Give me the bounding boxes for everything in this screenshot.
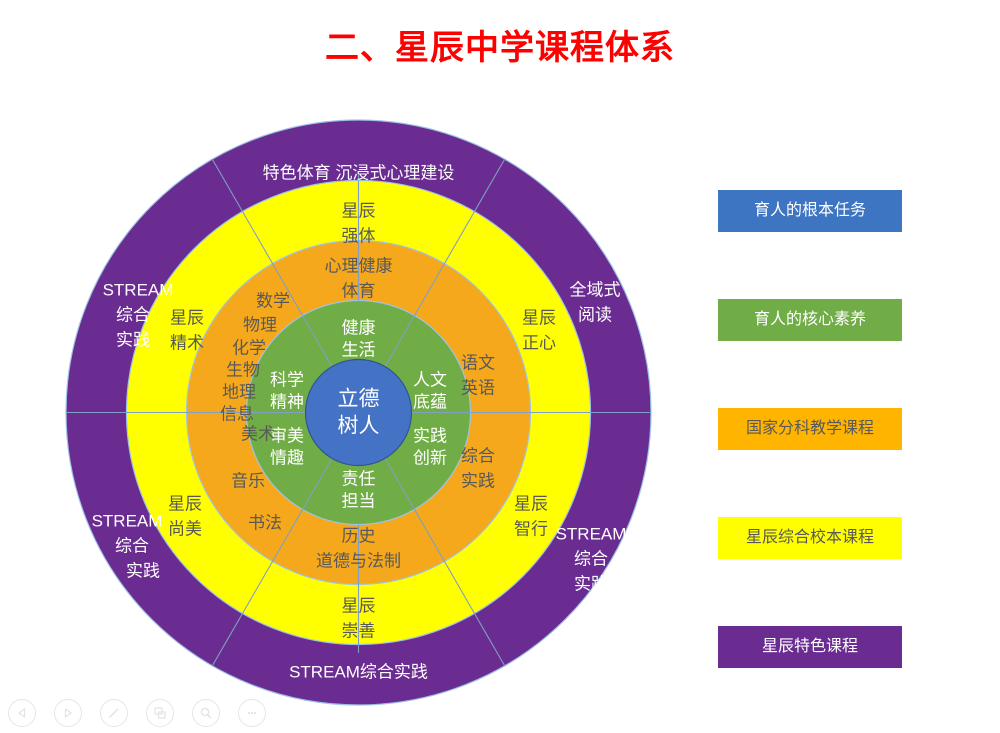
orange-seg-stem-line2: 物理 [243, 315, 277, 334]
yellow-seg-zhixing-line2: 智行 [514, 519, 548, 538]
orange-seg-comprehensive-line1: 综合 [461, 446, 495, 465]
purple-seg-lower-left-line1: STREAM [92, 511, 163, 530]
orange-seg-art-line1: 美术 [241, 424, 275, 443]
green-seg-aesthetic-line1: 审美 [270, 426, 304, 445]
grid-icon [153, 706, 167, 720]
zoom-tool-button[interactable] [192, 699, 220, 727]
purple-seg-upper-left-line3: 实践 [116, 330, 150, 349]
legend-item-core-literacy[interactable]: 育人的核心素养 [718, 299, 902, 341]
orange-seg-art-line3: 书法 [248, 513, 282, 532]
yellow-seg-qiangti-line1: 星辰 [342, 201, 376, 220]
purple-seg-lower-right-line2: 综合 [574, 549, 608, 568]
green-seg-practice-line1: 实践 [413, 426, 447, 445]
legend-label: 育人的核心素养 [754, 312, 866, 328]
yellow-seg-jingshu-line2: 精术 [170, 333, 204, 352]
course-system-diagram: 立德 树人 健康 生活 人文 底蕴 实践 创新 责任 担当 审美 情趣 科学 精… [65, 119, 652, 706]
orange-seg-history-line2: 道德与法制 [316, 551, 401, 570]
next-slide-button[interactable] [54, 699, 82, 727]
triangle-left-icon [16, 707, 28, 719]
core-label-line2: 树人 [338, 415, 380, 438]
legend-label: 星辰特色课程 [762, 639, 858, 655]
green-seg-humanity-line2: 底蕴 [413, 392, 447, 411]
green-seg-duty-line1: 责任 [342, 469, 376, 488]
green-seg-aesthetic-line2: 情趣 [270, 448, 304, 467]
legend-item-school-based[interactable]: 星辰综合校本课程 [718, 517, 902, 559]
ellipsis-icon [245, 706, 259, 720]
presentation-toolbar [8, 699, 266, 727]
green-seg-science-line2: 精神 [270, 392, 304, 411]
orange-seg-stem-line6: 信息 [220, 404, 254, 423]
magnifier-icon [199, 706, 213, 720]
orange-seg-stem-line5: 地理 [222, 382, 256, 401]
previous-slide-button[interactable] [8, 699, 36, 727]
legend-item-featured-courses[interactable]: 星辰特色课程 [718, 626, 902, 668]
orange-seg-art-line2: 音乐 [231, 471, 265, 490]
triangle-right-icon [62, 707, 74, 719]
orange-seg-stem-line3: 化学 [232, 338, 266, 357]
purple-seg-bottom-label: STREAM综合实践 [289, 662, 428, 681]
legend-item-national-subjects[interactable]: 国家分科教学课程 [718, 408, 902, 450]
purple-seg-lower-left-line2: 综合 [115, 536, 149, 555]
orange-seg-psych-pe-line2: 体育 [342, 281, 376, 300]
orange-seg-chinese-english-line2: 英语 [461, 378, 495, 397]
legend-label: 星辰综合校本课程 [746, 530, 874, 546]
pen-tool-button[interactable] [100, 699, 128, 727]
green-seg-duty-line2: 担当 [342, 491, 376, 510]
yellow-seg-zhengxin-line2: 正心 [522, 333, 556, 352]
purple-seg-upper-left-line1: STREAM [103, 280, 174, 299]
orange-seg-stem-line1: 数学 [256, 291, 290, 310]
green-seg-practice-line2: 创新 [413, 448, 447, 467]
pen-icon [107, 706, 121, 720]
yellow-seg-jingshu-line1: 星辰 [170, 308, 204, 327]
slide-grid-button[interactable] [146, 699, 174, 727]
yellow-seg-zhixing-line1: 星辰 [514, 494, 548, 513]
page-title: 二、星辰中学课程体系 [0, 28, 1000, 69]
yellow-seg-chongshan-line1: 星辰 [342, 596, 376, 615]
purple-seg-lower-left-line3: 实践 [126, 561, 160, 580]
yellow-seg-chongshan-line2: 崇善 [342, 621, 376, 640]
core-circle: 立德 树人 [306, 360, 412, 466]
yellow-seg-shangmei-line1: 星辰 [168, 494, 202, 513]
green-seg-health-line2: 生活 [342, 340, 376, 359]
green-seg-health-line1: 健康 [342, 318, 376, 337]
yellow-seg-shangmei-line2: 尚美 [168, 519, 202, 538]
legend: 育人的根本任务 育人的核心素养 国家分科教学课程 星辰综合校本课程 星辰特色课程 [718, 190, 902, 668]
purple-seg-top-label: 特色体育 沉浸式心理建设 [263, 163, 455, 182]
orange-seg-history-line1: 历史 [342, 526, 376, 545]
orange-seg-psych-pe-line1: 心理健康 [325, 256, 393, 275]
orange-seg-stem-line4: 生物 [226, 360, 260, 379]
yellow-seg-zhengxin-line1: 星辰 [522, 308, 556, 327]
core-label-line1: 立德 [338, 388, 380, 411]
purple-seg-lower-right-line3: 实践 [574, 574, 608, 593]
yellow-seg-qiangti-line2: 强体 [342, 226, 376, 245]
purple-seg-lower-right-line1: STREAM [556, 524, 627, 543]
orange-seg-chinese-english-line1: 语文 [461, 353, 495, 372]
purple-seg-upper-left-line2: 综合 [116, 305, 150, 324]
more-options-button[interactable] [238, 699, 266, 727]
green-seg-science-line1: 科学 [270, 370, 304, 389]
legend-label: 育人的根本任务 [754, 203, 866, 219]
legend-item-fundamental-task[interactable]: 育人的根本任务 [718, 190, 902, 232]
orange-seg-comprehensive-line2: 实践 [461, 471, 495, 490]
purple-seg-reading-line1: 全域式 [570, 280, 621, 299]
purple-seg-reading-line2: 阅读 [578, 305, 612, 324]
green-seg-humanity-line1: 人文 [413, 370, 447, 389]
legend-label: 国家分科教学课程 [746, 421, 874, 437]
